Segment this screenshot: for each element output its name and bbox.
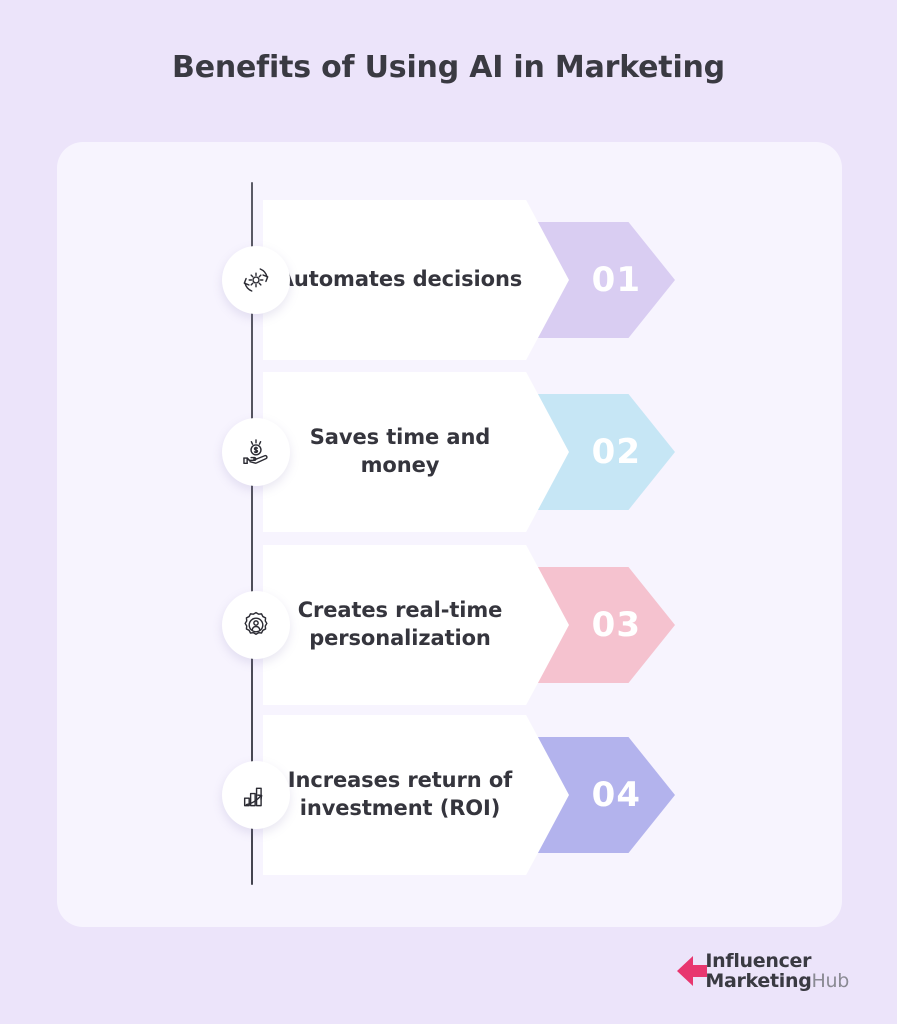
step-number-3: 03 — [592, 608, 641, 642]
step-number-1: 01 — [592, 263, 641, 297]
step-label-4: Increases return of investment (ROI) — [277, 767, 523, 822]
step-card-2[interactable]: Saves time and money — [263, 372, 569, 532]
benefits-step-list: 01 Automates decisions 02 Saves time an — [0, 0, 897, 1024]
benefit-step-4[interactable]: 04 Increases return of investment (ROI) — [0, 715, 897, 875]
logo-line-influencer: Influencer — [705, 951, 849, 972]
benefit-step-2[interactable]: 02 Saves time and money — [0, 372, 897, 532]
benefit-step-1[interactable]: 01 Automates decisions — [0, 200, 897, 360]
step-label-3: Creates real-time personalization — [277, 597, 523, 652]
step-card-3[interactable]: Creates real-time personalization — [263, 545, 569, 705]
gear-person-icon — [222, 591, 290, 659]
logo-line-marketinghub: MarketingHub — [705, 971, 849, 992]
step-label-2: Saves time and money — [277, 424, 523, 479]
logo-word-marketing: Marketing — [705, 970, 811, 992]
step-card-1[interactable]: Automates decisions — [263, 200, 569, 360]
step-card-4[interactable]: Increases return of investment (ROI) — [263, 715, 569, 875]
step-label-1: Automates decisions — [278, 266, 522, 294]
influencer-marketing-hub-logo: Influencer MarketingHub — [677, 951, 849, 992]
bar-chart-growth-icon — [222, 761, 290, 829]
logo-word-hub: Hub — [812, 970, 850, 992]
benefit-step-3[interactable]: 03 Creates real-time personalization — [0, 545, 897, 705]
step-number-2: 02 — [592, 435, 641, 469]
gear-refresh-icon — [222, 246, 290, 314]
hand-coin-icon — [222, 418, 290, 486]
step-number-4: 04 — [592, 778, 641, 812]
logo-arrow-icon — [677, 954, 707, 988]
